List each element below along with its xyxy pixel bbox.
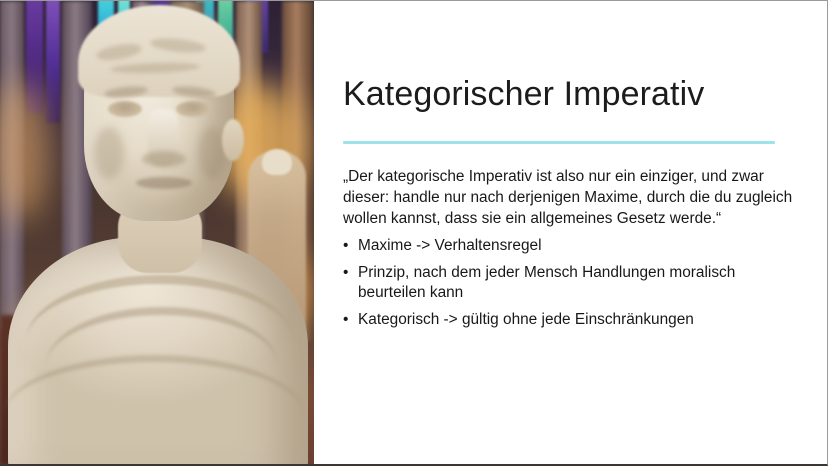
bust-nose-shadow <box>142 151 186 167</box>
list-item-label: Kategorisch -> gültig ohne jede Einschrä… <box>358 311 694 328</box>
bullet-marker-icon: • <box>343 263 348 283</box>
background-statue-head <box>262 149 292 175</box>
slide-image-marble-bust <box>0 1 314 465</box>
list-item: • Kategorisch -> gültig ohne jede Einsch… <box>336 310 806 330</box>
bust-cheek <box>94 127 124 179</box>
slide-body: „Der kategorische Imperativ ist also nur… <box>336 167 806 337</box>
title-accent-rule <box>343 141 775 144</box>
bust-mouth <box>136 177 192 189</box>
quotation-text: „Der kategorische Imperativ ist also nur… <box>336 167 806 230</box>
bust-eye <box>108 101 142 117</box>
bust-ear <box>222 119 244 161</box>
slide-title: Kategorischer Imperativ <box>343 75 803 114</box>
list-item-label: Prinzip, nach dem jeder Mensch Handlunge… <box>358 264 735 301</box>
stained-glass-window <box>46 1 60 123</box>
bullet-list: • Maxime -> Verhaltensregel • Prinzip, n… <box>336 236 806 330</box>
bust-drapery <box>4 355 304 465</box>
bust-eye <box>176 101 210 117</box>
bullet-marker-icon: • <box>343 236 348 256</box>
list-item: • Prinzip, nach dem jeder Mensch Handlun… <box>336 263 806 303</box>
list-item: • Maxime -> Verhaltensregel <box>336 236 806 256</box>
bullet-marker-icon: • <box>343 310 348 330</box>
slide-content-panel: Kategorischer Imperativ „Der kategorisch… <box>314 1 827 465</box>
list-item-label: Maxime -> Verhaltensregel <box>358 237 542 254</box>
presentation-slide: Kategorischer Imperativ „Der kategorisch… <box>0 0 828 466</box>
